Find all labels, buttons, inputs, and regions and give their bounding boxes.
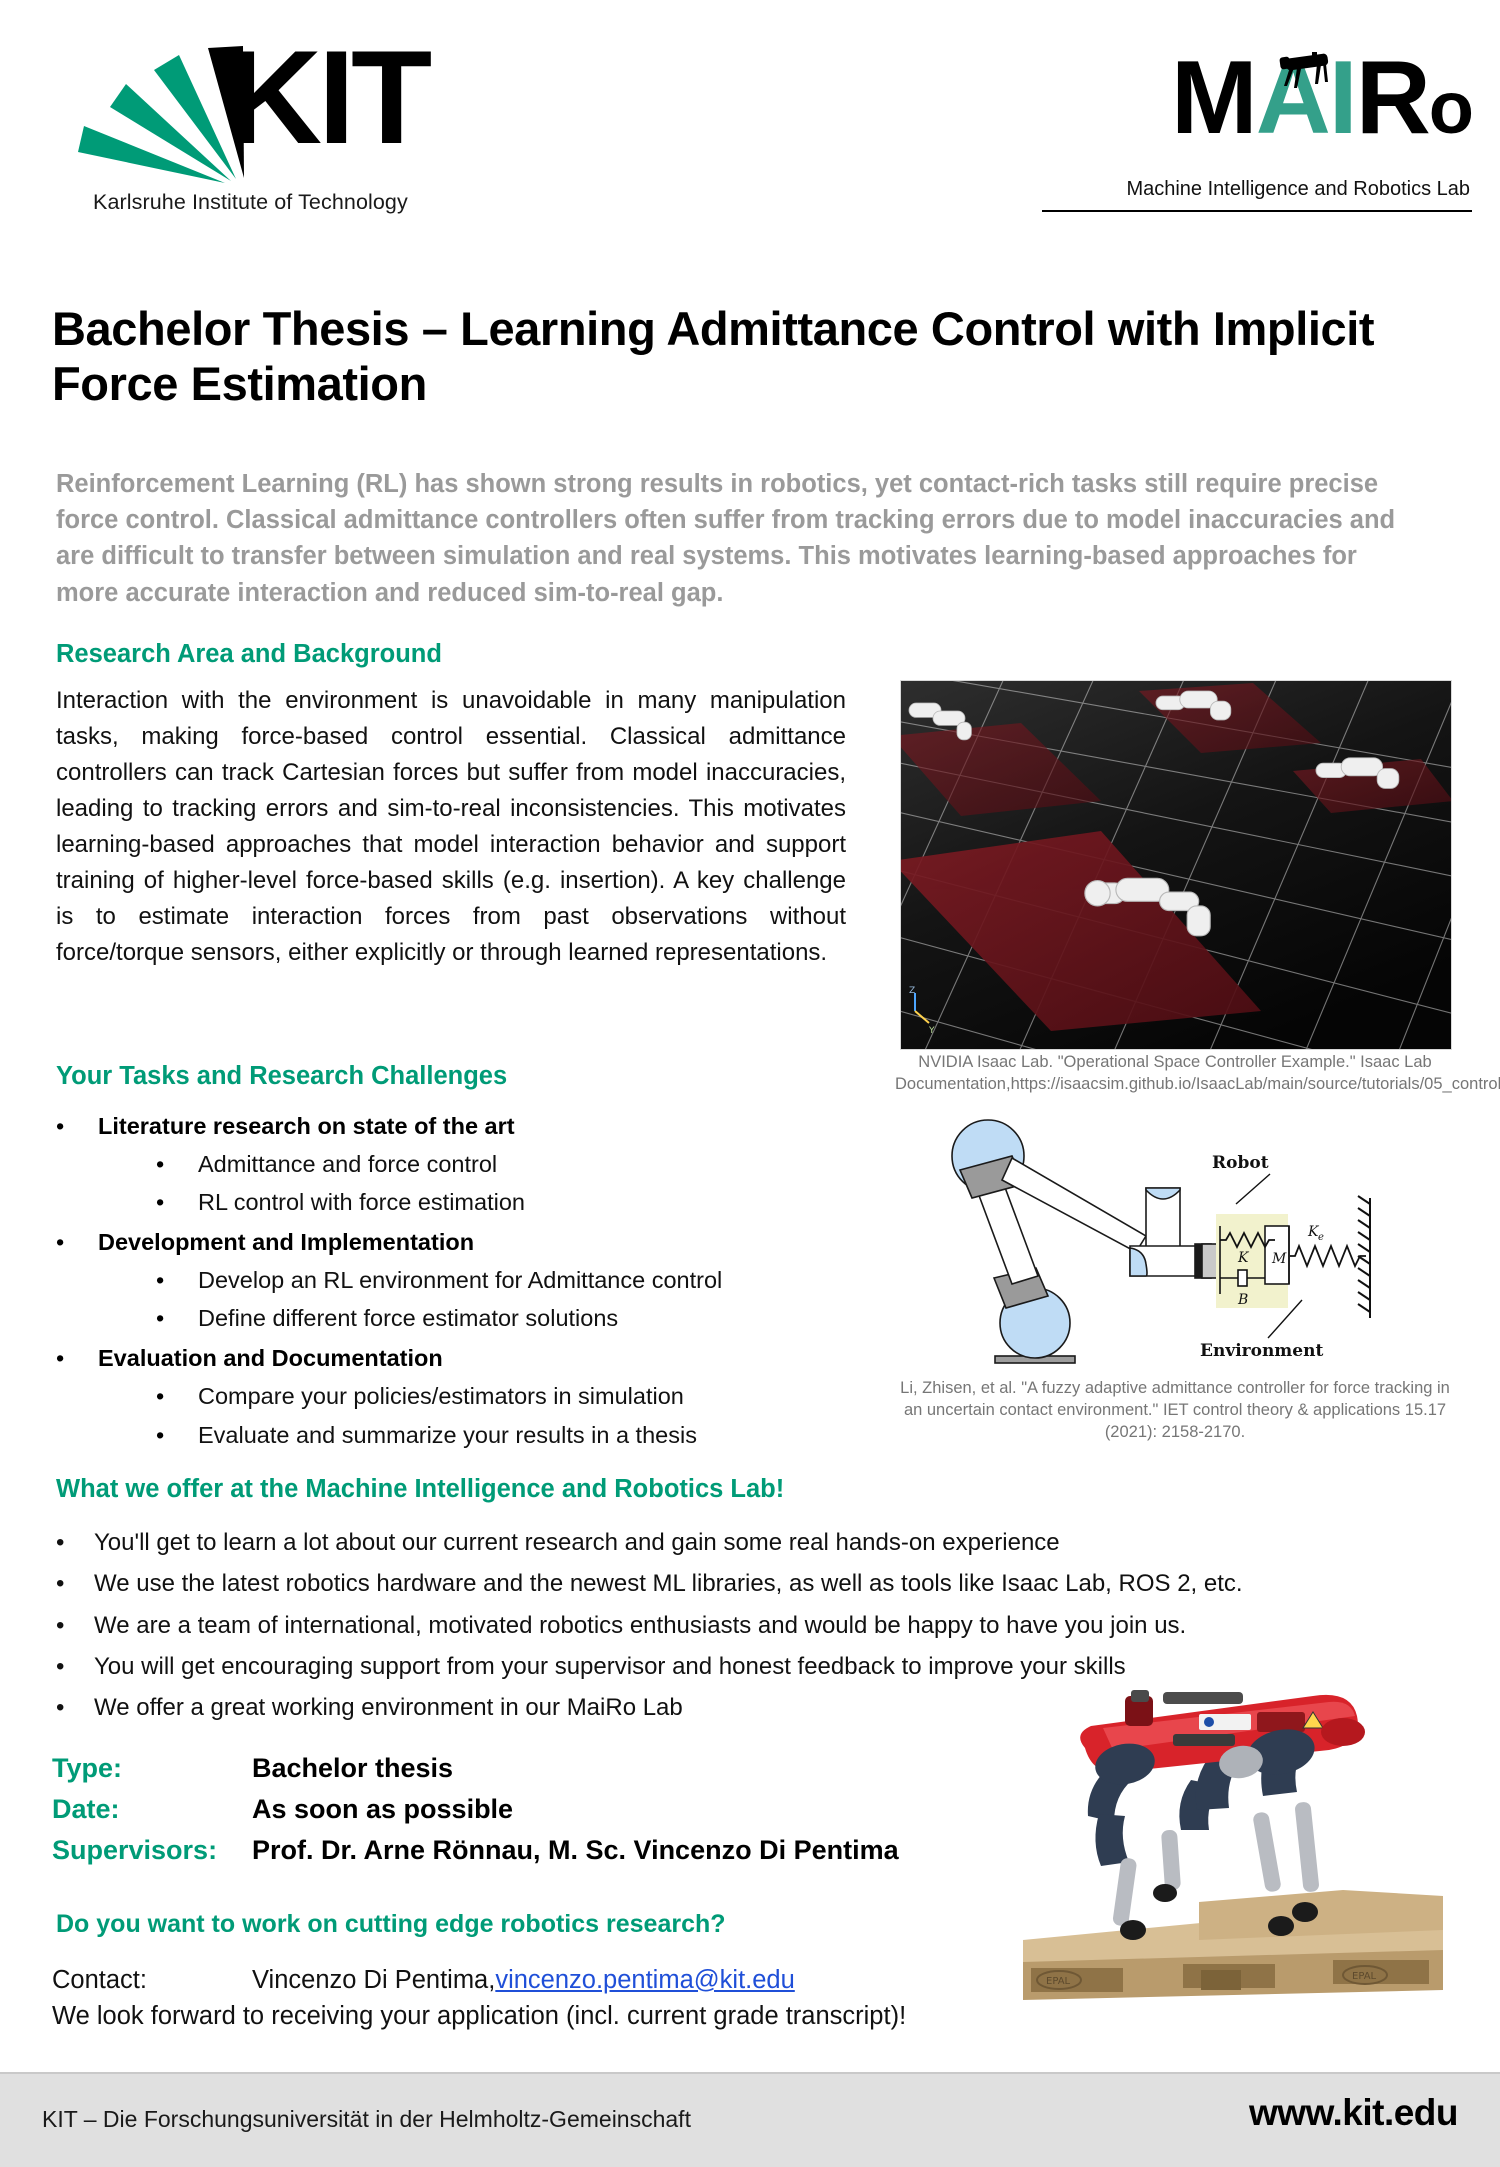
mairo-letter-r: R [1356, 40, 1429, 156]
bullet-icon: • [156, 1299, 198, 1337]
robot-label: Robot [1212, 1153, 1269, 1173]
task-item: • Admittance and force control [156, 1145, 856, 1183]
svg-text:K: K [1237, 1250, 1250, 1266]
poster-page: KIT Karlsruhe Institute of Technology MA… [0, 0, 1500, 2167]
bullet-icon: • [56, 1223, 98, 1261]
meta-value: Bachelor thesis [252, 1748, 453, 1789]
svg-text:e: e [1318, 1232, 1324, 1243]
task-item-label: Admittance and force control [198, 1145, 497, 1183]
task-group-label: Literature research on state of the art [98, 1107, 515, 1145]
svg-text:B: B [1237, 1292, 1248, 1308]
svg-text:EPAL: EPAL [1352, 1971, 1377, 1982]
contact-row: Contact: Vincenzo Di Pentima, vincenzo.p… [52, 1962, 1052, 1999]
offer-item: • You will get encouraging support from … [56, 1646, 1446, 1687]
mairo-letter-o: o [1429, 66, 1472, 149]
kit-fan-icon [48, 46, 248, 186]
anymal-robot-photo: EPAL EPAL [1013, 1690, 1453, 2020]
offer-item-label: We use the latest robotics hardware and … [94, 1563, 1243, 1604]
abstract-lede: Reinforcement Learning (RL) has shown st… [56, 466, 1412, 611]
task-item-label: Define different force estimator solutio… [198, 1299, 618, 1337]
bullet-icon: • [56, 1107, 98, 1145]
mairo-letter-m: M [1171, 40, 1256, 156]
admittance-diagram-image: M K B K e [950, 1118, 1450, 1368]
task-item: • Evaluate and summarize your results in… [156, 1416, 856, 1454]
offer-heading: What we offer at the Machine Intelligenc… [56, 1475, 784, 1504]
environment-label: Environment [1200, 1341, 1323, 1361]
meta-key: Date: [52, 1789, 252, 1830]
meta-row-date: Date: As soon as possible [52, 1789, 1052, 1830]
isaac-lab-simulation-image: Z Y [900, 680, 1452, 1050]
task-group: • Literature research on state of the ar… [56, 1107, 856, 1145]
tasks-list: • Literature research on state of the ar… [56, 1105, 856, 1454]
meta-value: Prof. Dr. Arne Rönnau, M. Sc. Vincenzo D… [252, 1830, 899, 1871]
bullet-icon: • [56, 1646, 94, 1687]
task-group: • Evaluation and Documentation [56, 1339, 856, 1377]
task-item: • RL control with force estimation [156, 1183, 856, 1221]
research-section: Research Area and Background Interaction… [56, 640, 846, 971]
bullet-icon: • [156, 1145, 198, 1183]
task-item-label: Evaluate and summarize your results in a… [198, 1416, 697, 1454]
task-item: • Define different force estimator solut… [156, 1299, 856, 1337]
bullet-icon: • [156, 1377, 198, 1415]
bullet-icon: • [56, 1605, 94, 1646]
bullet-icon: • [56, 1563, 94, 1604]
offer-item-label: You'll get to learn a lot about our curr… [94, 1522, 1060, 1563]
figure1-caption: NVIDIA Isaac Lab. "Operational Space Con… [895, 1052, 1455, 1096]
footer-divider [0, 2072, 1500, 2074]
page-title: Bachelor Thesis – Learning Admittance Co… [52, 302, 1392, 412]
task-group-label: Evaluation and Documentation [98, 1339, 443, 1377]
mairo-logo-divider [1042, 210, 1472, 212]
svg-text:Z: Z [909, 986, 915, 996]
anymal-robot-illustration: EPAL EPAL [1013, 1690, 1453, 2020]
bullet-icon: • [56, 1687, 94, 1728]
kit-logo-subtitle: Karlsruhe Institute of Technology [93, 190, 408, 215]
offer-item: • You'll get to learn a lot about our cu… [56, 1522, 1446, 1563]
bullet-icon: • [56, 1339, 98, 1377]
tasks-heading: Your Tasks and Research Challenges [56, 1062, 507, 1091]
offer-item: • We use the latest robotics hardware an… [56, 1563, 1446, 1604]
meta-row-supervisors: Supervisors: Prof. Dr. Arne Rönnau, M. S… [52, 1830, 1052, 1871]
contact-email-link[interactable]: vincenzo.pentima@kit.edu [495, 1962, 794, 1999]
mairo-logo-wordmark: MAIRo [1042, 38, 1472, 158]
bullet-icon: • [156, 1416, 198, 1454]
meta-row-type: Type: Bachelor thesis [52, 1748, 1052, 1789]
contact-key: Contact: [52, 1962, 252, 1999]
closing-text: We look forward to receiving your applic… [52, 2002, 906, 2031]
quadruped-robot-icon [1270, 52, 1340, 96]
isaac-lab-render: Z Y [901, 681, 1452, 1050]
mairo-logo: MAIRo Machine Intelligence and Robotics … [1042, 38, 1472, 223]
task-item-label: Compare your policies/estimators in simu… [198, 1377, 684, 1415]
svg-text:Y: Y [928, 1026, 935, 1036]
svg-text:M: M [1271, 1251, 1287, 1267]
svg-text:EPAL: EPAL [1046, 1976, 1071, 1987]
meta-key: Supervisors: [52, 1830, 252, 1871]
figure2-caption: Li, Zhisen, et al. "A fuzzy adaptive adm… [900, 1378, 1450, 1443]
admittance-diagram-svg: M K B K e [950, 1118, 1450, 1368]
offer-item-label: We offer a great working environment in … [94, 1687, 683, 1728]
meta-value: As soon as possible [252, 1789, 513, 1830]
task-group-label: Development and Implementation [98, 1223, 474, 1261]
cta-heading: Do you want to work on cutting edge robo… [56, 1910, 726, 1939]
task-item-label: RL control with force estimation [198, 1183, 525, 1221]
kit-logo: KIT Karlsruhe Institute of Technology [48, 38, 408, 228]
task-item: • Develop an RL environment for Admittan… [156, 1261, 856, 1299]
research-body: Interaction with the environment is unav… [56, 683, 846, 971]
contact-name: Vincenzo Di Pentima, [252, 1962, 495, 1999]
mairo-logo-subtitle: Machine Intelligence and Robotics Lab [1126, 178, 1470, 201]
kit-logo-letters: KIT [226, 32, 428, 165]
footer-left-text: KIT – Die Forschungsuniversität in der H… [42, 2106, 691, 2133]
task-item: • Compare your policies/estimators in si… [156, 1377, 856, 1415]
meta-block: Type: Bachelor thesis Date: As soon as p… [52, 1748, 1052, 1871]
contact-block: Contact: Vincenzo Di Pentima, vincenzo.p… [52, 1962, 1052, 1999]
footer: KIT – Die Forschungsuniversität in der H… [0, 2072, 1500, 2167]
meta-key: Type: [52, 1748, 252, 1789]
footer-website[interactable]: www.kit.edu [1249, 2092, 1458, 2134]
offer-item-label: You will get encouraging support from yo… [94, 1646, 1126, 1687]
task-item-label: Develop an RL environment for Admittance… [198, 1261, 722, 1299]
research-heading: Research Area and Background [56, 640, 846, 669]
bullet-icon: • [56, 1522, 94, 1563]
kit-logo-mark: KIT [48, 38, 388, 188]
task-group: • Development and Implementation [56, 1223, 856, 1261]
bullet-icon: • [156, 1183, 198, 1221]
bullet-icon: • [156, 1261, 198, 1299]
offer-item: • We are a team of international, motiva… [56, 1605, 1446, 1646]
offer-item-label: We are a team of international, motivate… [94, 1605, 1186, 1646]
